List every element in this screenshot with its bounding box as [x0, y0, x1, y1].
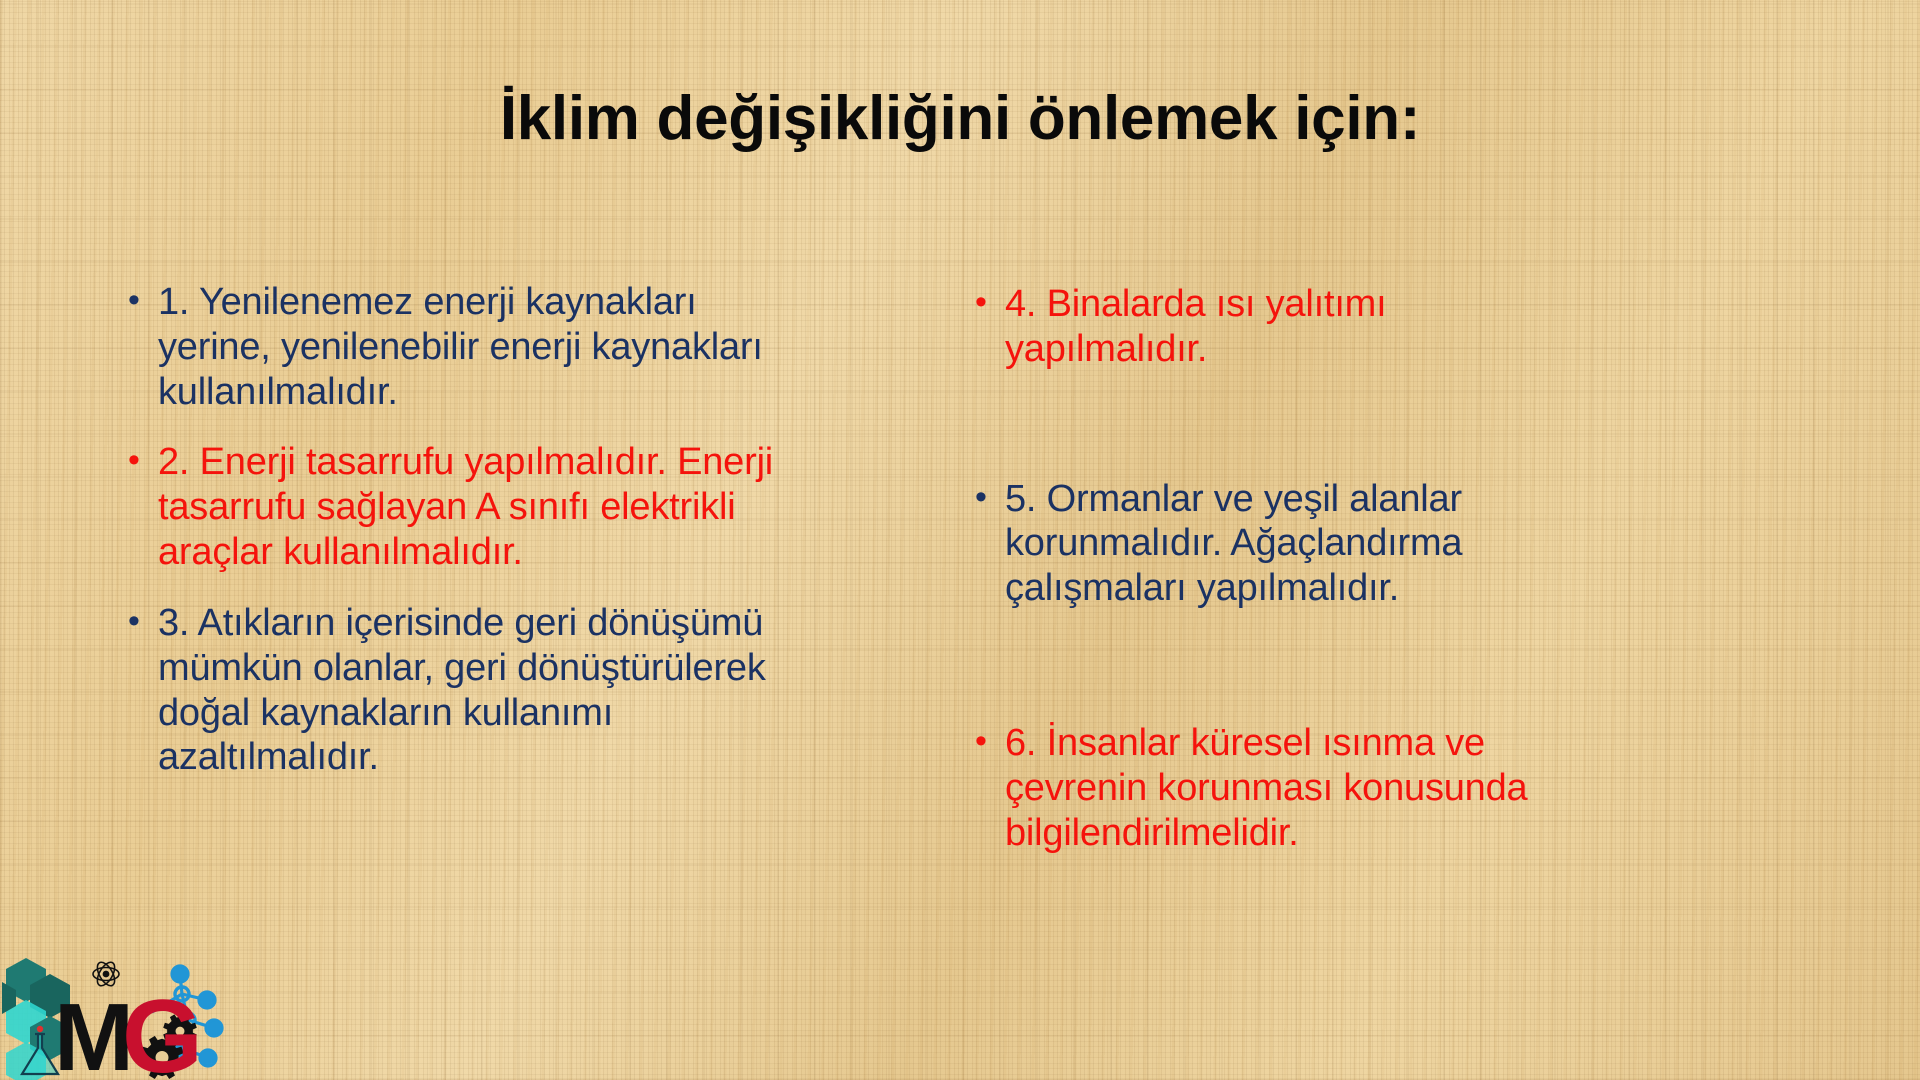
bullet-item-5: • 5. Ormanlar ve yeşil alanlar korunmalı… — [975, 477, 1595, 611]
bullet-marker-icon: • — [128, 280, 158, 321]
bullet-text-4: 4. Binalarda ısı yalıtımı yapılmalıdır. — [1005, 282, 1595, 372]
bullet-marker-icon: • — [975, 282, 1005, 323]
left-column: • 1. Yenilenemez enerji kaynakları yerin… — [128, 280, 808, 780]
logo-letter-g: G — [122, 979, 203, 1080]
mg-logo: M G — [2, 952, 252, 1080]
bullet-item-3: • 3. Atıkların içerisinde geri dönüşümü … — [128, 601, 808, 780]
bullet-text-5: 5. Ormanlar ve yeşil alanlar korunmalıdı… — [1005, 477, 1595, 611]
bullet-text-6: 6. İnsanlar küresel ısınma ve çevrenin k… — [1005, 721, 1595, 855]
bullet-item-1: • 1. Yenilenemez enerji kaynakları yerin… — [128, 280, 808, 414]
bullet-text-3: 3. Atıkların içerisinde geri dönüşümü mü… — [158, 601, 808, 780]
bullet-marker-icon: • — [975, 721, 1005, 762]
bullet-text-2: 2. Enerji tasarrufu yapılmalıdır. Enerji… — [158, 440, 808, 574]
bullet-marker-icon: • — [975, 477, 1005, 518]
bullet-marker-icon: • — [128, 601, 158, 642]
bullet-marker-icon: • — [128, 440, 158, 481]
bullet-item-6: • 6. İnsanlar küresel ısınma ve çevrenin… — [975, 721, 1595, 855]
bullet-text-1: 1. Yenilenemez enerji kaynakları yerine,… — [158, 280, 808, 414]
right-column: • 4. Binalarda ısı yalıtımı yapılmalıdır… — [975, 282, 1595, 856]
slide-canvas: İklim değişikliğini önlemek için: • 1. Y… — [0, 0, 1920, 1080]
bullet-item-2: • 2. Enerji tasarrufu yapılmalıdır. Ener… — [128, 440, 808, 574]
bullet-item-4: • 4. Binalarda ısı yalıtımı yapılmalıdır… — [975, 282, 1595, 372]
page-title: İklim değişikliğini önlemek için: — [0, 86, 1920, 151]
